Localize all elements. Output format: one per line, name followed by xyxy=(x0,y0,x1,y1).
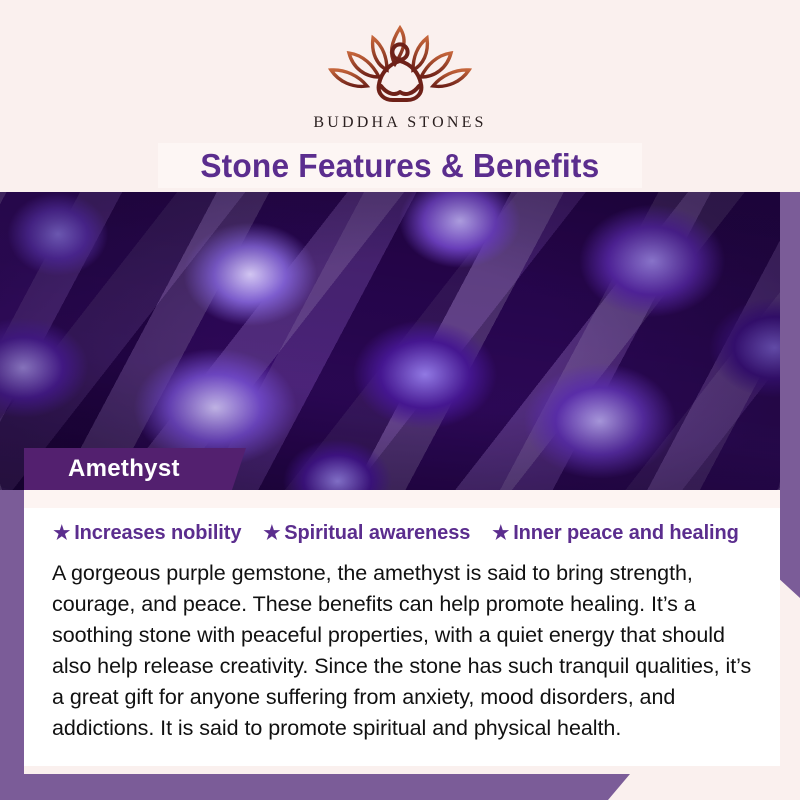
content-panel: ★ Increases nobility ★ Spiritual awarene… xyxy=(24,508,780,766)
title-strip: Stone Features & Benefits xyxy=(158,143,642,188)
stone-photo-vignette xyxy=(0,192,780,490)
benefits-list: ★ Increases nobility ★ Spiritual awarene… xyxy=(38,514,754,552)
benefit-label-1: Increases nobility xyxy=(74,522,241,545)
lotus-meditation-figure-icon xyxy=(305,20,495,112)
infographic-page: BUDDHA STONES Stone Features & Benefits … xyxy=(0,0,800,800)
brand-logo xyxy=(300,20,500,112)
brand-name: BUDDHA STONES xyxy=(313,114,486,132)
stone-name-label: Amethyst xyxy=(68,455,180,483)
benefit-item-1: ★ Increases nobility xyxy=(53,522,241,545)
star-icon: ★ xyxy=(492,524,509,543)
page-title: Stone Features & Benefits xyxy=(200,147,599,185)
stone-photo xyxy=(0,192,780,490)
frame-band-bottom xyxy=(0,774,630,800)
star-icon: ★ xyxy=(53,524,70,543)
benefit-item-2: ★ Spiritual awareness xyxy=(263,522,470,545)
stone-name-banner: Amethyst xyxy=(24,448,246,490)
frame-band-left xyxy=(0,490,24,800)
benefit-label-3: Inner peace and healing xyxy=(513,522,739,545)
benefit-item-3: ★ Inner peace and healing xyxy=(492,522,738,545)
content-spacer xyxy=(24,490,780,508)
benefit-label-2: Spiritual awareness xyxy=(284,522,470,545)
stone-description: A gorgeous purple gemstone, the amethyst… xyxy=(52,558,768,744)
star-icon: ★ xyxy=(263,524,280,543)
